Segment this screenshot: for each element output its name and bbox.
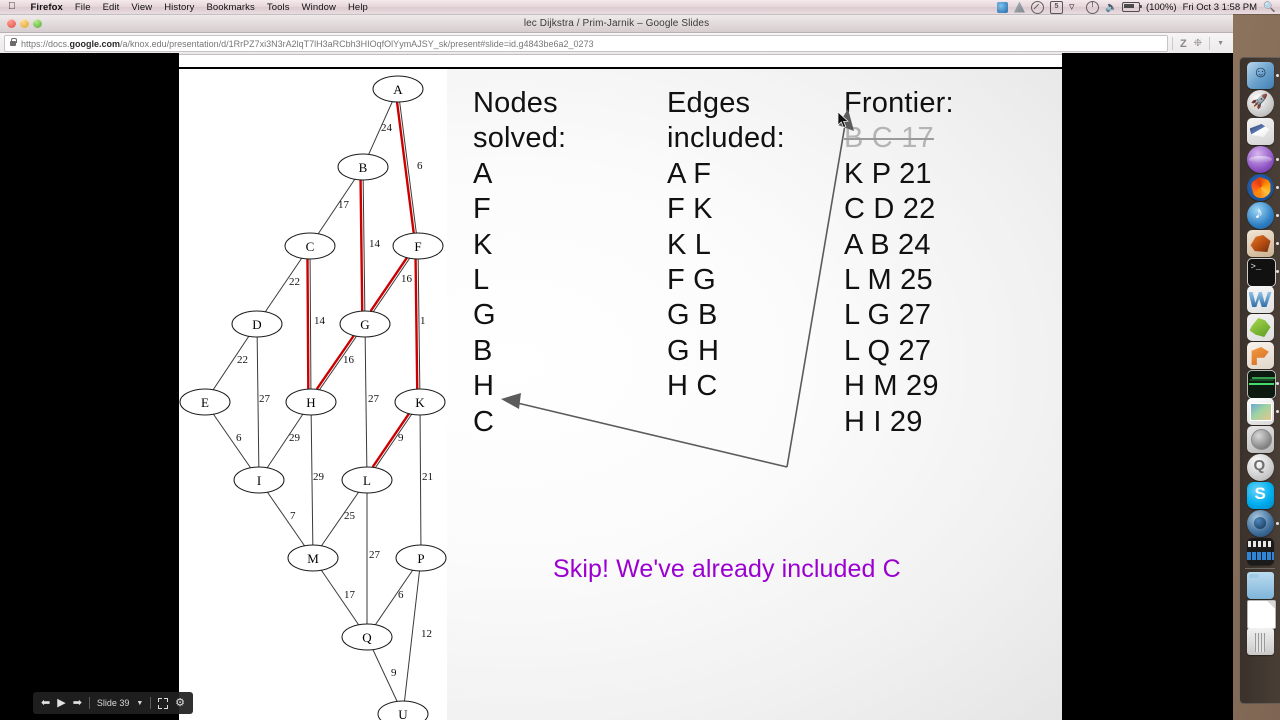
browser-toolbar: https://docs.google.com/a/knox.edu/prese… xyxy=(0,33,1233,55)
blue-w-app-icon[interactable] xyxy=(1247,286,1274,313)
extension-icon[interactable]: ❉ xyxy=(1194,38,1202,49)
app-running-indicator xyxy=(1276,186,1279,189)
dock-item-terminal[interactable] xyxy=(1247,258,1274,285)
mac-dock[interactable] xyxy=(1239,57,1280,704)
app-running-indicator xyxy=(1276,270,1279,273)
dock-item-imovie[interactable] xyxy=(1247,538,1274,565)
wifi-icon[interactable]: ▿ xyxy=(1069,2,1080,13)
app-running-indicator xyxy=(1276,410,1279,413)
url-host: google.com xyxy=(70,39,121,49)
node-label: F xyxy=(414,239,421,254)
frontier-item: H M 29 xyxy=(844,369,954,404)
dock-item-itunes[interactable] xyxy=(1247,202,1274,229)
graph-node-A: A xyxy=(373,76,423,102)
frontier-item: K P 21 xyxy=(844,157,954,192)
gear-icon[interactable]: ⚙ xyxy=(175,698,185,709)
finder-icon[interactable] xyxy=(1247,62,1274,89)
menu-item-edit[interactable]: Edit xyxy=(97,2,126,13)
nodes-solved-item: C xyxy=(473,405,566,440)
edge-weight-PQ: 6 xyxy=(398,589,404,601)
menu-item-window[interactable]: Window xyxy=(296,2,342,13)
graph-node-B: B xyxy=(338,154,388,180)
battery-icon[interactable] xyxy=(1122,2,1140,12)
edge-weight-BC: 17 xyxy=(338,199,350,211)
column-edges-included: Edges included: A F F K K L F G G B G H … xyxy=(667,86,785,405)
toolbar-right-icons: Z ❉ ▼ xyxy=(1172,37,1229,50)
dock-item-documents-folder[interactable] xyxy=(1247,572,1274,599)
app-running-indicator xyxy=(1276,74,1279,77)
graph-node-I: I xyxy=(234,467,284,493)
menu-item-view[interactable]: View xyxy=(125,2,158,13)
menu-bar-clock[interactable]: Fri Oct 3 1:58 PM xyxy=(1183,2,1257,13)
slide-menu-chevron-down-icon[interactable]: ▼ xyxy=(136,700,143,707)
edge-weight-MQ: 17 xyxy=(344,589,356,601)
edge-weight-FG: 16 xyxy=(401,273,413,285)
frontier-item-struck: B C 17 xyxy=(844,121,954,156)
horse-app-icon[interactable] xyxy=(1247,230,1274,257)
app-running-indicator xyxy=(1276,214,1279,217)
slide-controls-bar[interactable]: ⬅ ▶ ➡ Slide 39 ▼ ⚙ xyxy=(33,692,193,714)
graph-edge-FG xyxy=(373,258,409,311)
edge-weight-FK: 1 xyxy=(420,315,426,327)
green-app-icon[interactable] xyxy=(1247,314,1274,341)
dock-item-globe-app[interactable] xyxy=(1247,426,1274,453)
edge-weight-KP: 21 xyxy=(422,471,433,483)
mst-edge-KL xyxy=(373,413,409,466)
node-label: I xyxy=(257,473,261,488)
frontier-item: A B 24 xyxy=(844,228,954,263)
do-not-disturb-icon[interactable] xyxy=(1031,1,1044,14)
edge-weight-CD: 22 xyxy=(289,276,300,288)
graph-node-M: M xyxy=(288,545,338,571)
graph-node-E: E xyxy=(180,389,230,415)
frontier-item: L Q 27 xyxy=(844,334,954,369)
nodes-solved-item: H xyxy=(473,369,566,404)
edge-weight-GH: 16 xyxy=(343,354,355,366)
node-label: H xyxy=(306,395,315,410)
edges-included-item: G B xyxy=(667,298,785,333)
graph-node-U: U xyxy=(378,701,428,720)
window-title-bar[interactable]: lec Dijkstra / Prim-Jarnik – Google Slid… xyxy=(0,14,1233,33)
lock-icon xyxy=(10,41,16,46)
graph-edge-GL xyxy=(365,337,367,467)
dock-item-photos[interactable] xyxy=(1247,398,1274,425)
node-label: U xyxy=(398,707,408,720)
frontier-item: C D 22 xyxy=(844,192,954,227)
graph-edge-AF xyxy=(400,102,417,233)
slide-canvas[interactable]: ABCFDGEHKILMPQU 246171422141612227162762… xyxy=(179,69,1062,720)
itunes-icon[interactable] xyxy=(1247,202,1274,229)
edge-weight-DI: 27 xyxy=(259,393,271,405)
graph-edge-PU xyxy=(404,571,419,701)
dock-item-blue-w-app[interactable] xyxy=(1247,286,1274,313)
letterbox-left xyxy=(0,53,179,720)
graph-edge-EI xyxy=(213,414,250,468)
next-slide-icon[interactable]: ➡ xyxy=(73,698,82,709)
trash-icon[interactable] xyxy=(1247,628,1274,655)
previous-slide-icon[interactable]: ⬅ xyxy=(41,698,50,709)
controls-divider-2 xyxy=(150,697,151,709)
fullscreen-icon[interactable] xyxy=(158,698,168,709)
menu-item-tools[interactable]: Tools xyxy=(261,2,296,13)
edge-weight-PU: 12 xyxy=(421,628,432,640)
edges-included-item: F G xyxy=(667,263,785,298)
nodes-solved-item: L xyxy=(473,263,566,298)
dock-item-quicksilver[interactable] xyxy=(1247,454,1274,481)
dock-item-skype[interactable] xyxy=(1247,482,1274,509)
edges-included-item: G H xyxy=(667,334,785,369)
dock-item-firefox[interactable] xyxy=(1247,174,1274,201)
mst-edge-FK xyxy=(416,259,418,389)
alert-icon[interactable]: ! xyxy=(1086,1,1099,14)
edge-weight-LQ: 27 xyxy=(369,549,381,561)
window-title: lec Dijkstra / Prim-Jarnik – Google Slid… xyxy=(0,18,1233,29)
node-label: M xyxy=(307,551,319,566)
graph-edge-BG xyxy=(363,180,365,311)
edge-weight-LM: 25 xyxy=(344,510,356,522)
chevron-down-icon[interactable]: ▼ xyxy=(1217,40,1224,47)
photos-icon[interactable] xyxy=(1247,398,1274,425)
globe-app-icon[interactable] xyxy=(1247,426,1274,453)
screen:  Firefox File Edit View History Bookmar… xyxy=(0,0,1280,720)
controls-divider xyxy=(89,697,90,709)
screen-sharing-icon[interactable]: 5 xyxy=(1050,1,1063,14)
dock-separator xyxy=(1245,568,1275,569)
menu-item-help[interactable]: Help xyxy=(342,2,374,13)
graph-node-C: C xyxy=(285,233,335,259)
nodes-solved-item: A xyxy=(473,157,566,192)
slide-number-label[interactable]: Slide 39 xyxy=(97,698,130,708)
app-running-indicator xyxy=(1276,158,1279,161)
graph-edge-KL xyxy=(375,414,411,467)
frontier-item: L M 25 xyxy=(844,263,954,298)
frontier-item: H I 29 xyxy=(844,405,954,440)
purple-orb-app-icon[interactable] xyxy=(1247,146,1274,173)
graph-node-L: L xyxy=(342,467,392,493)
edge-weight-AF: 6 xyxy=(417,160,423,172)
app-running-indicator xyxy=(1276,242,1279,245)
node-label: E xyxy=(201,395,209,410)
dock-item-orange-p-app[interactable] xyxy=(1247,342,1274,369)
app-running-indicator xyxy=(1276,522,1279,525)
nodes-solved-item: F xyxy=(473,192,566,227)
zotero-icon[interactable]: Z xyxy=(1180,38,1187,50)
node-label: P xyxy=(417,551,424,566)
graph-image: ABCFDGEHKILMPQU 246171422141612227162762… xyxy=(179,69,447,720)
dock-item-activity-monitor[interactable] xyxy=(1247,370,1274,397)
menu-item-bookmarks[interactable]: Bookmarks xyxy=(200,2,260,13)
edge-weight-HI: 29 xyxy=(289,432,301,444)
battery-percent: (100%) xyxy=(1146,2,1177,13)
node-label: K xyxy=(415,395,425,410)
edge-weight-EI: 6 xyxy=(236,432,242,444)
volume-icon[interactable]: 🔈 xyxy=(1105,2,1116,13)
quicktime-icon[interactable] xyxy=(1247,510,1274,537)
graph-node-D: D xyxy=(232,311,282,337)
spotlight-search-icon[interactable]: 🔍 xyxy=(1263,2,1274,13)
node-label: A xyxy=(393,82,403,97)
graph-node-K: K xyxy=(395,389,445,415)
edge-weight-KL: 9 xyxy=(398,432,404,444)
dock-item-trash[interactable] xyxy=(1247,628,1274,655)
menu-item-file[interactable]: File xyxy=(69,2,97,13)
edge-weight-HM: 29 xyxy=(313,471,325,483)
url-path: /a/knox.edu/presentation/d/1RrPZ7xi3N3rA… xyxy=(120,39,594,49)
graph-edge-KP xyxy=(420,415,421,545)
firefox-icon[interactable] xyxy=(1247,174,1274,201)
dock-item-quicktime[interactable] xyxy=(1247,510,1274,537)
mst-edge-BG xyxy=(361,180,363,311)
edge-weight-BG: 14 xyxy=(369,238,381,250)
graph-edge-BC xyxy=(318,179,355,233)
node-label: L xyxy=(363,473,371,488)
bluejay-app-icon[interactable] xyxy=(1247,118,1274,145)
graph-edge-CH xyxy=(310,259,311,389)
graph-edge-IM xyxy=(267,492,304,546)
node-label: D xyxy=(252,317,261,332)
edge-weight-GL: 27 xyxy=(368,393,380,405)
edges-included-item: F K xyxy=(667,192,785,227)
edge-weight-AB: 24 xyxy=(381,122,393,134)
edges-included-item: K L xyxy=(667,228,785,263)
frontier-item: L G 27 xyxy=(844,298,954,333)
menu-item-firefox[interactable]: Firefox xyxy=(25,2,69,13)
node-label: C xyxy=(306,239,315,254)
mouse-cursor xyxy=(838,112,850,130)
activity-monitor-icon[interactable] xyxy=(1247,370,1276,399)
graph-node-H: H xyxy=(286,389,336,415)
play-icon[interactable]: ▶ xyxy=(57,698,65,709)
edge-weight-QU: 9 xyxy=(391,667,397,679)
column-nodes-solved: Nodes solved: A F K L G B H C xyxy=(473,86,566,440)
dock-item-green-app[interactable] xyxy=(1247,314,1274,341)
address-bar[interactable]: https://docs.google.com/a/knox.edu/prese… xyxy=(4,35,1168,52)
orange-p-app-icon[interactable] xyxy=(1247,342,1274,369)
presentation-viewport: ABCFDGEHKILMPQU 246171422141612227162762… xyxy=(0,67,1233,720)
mst-edge-AF xyxy=(397,102,414,233)
downloads-file-icon[interactable] xyxy=(1247,600,1276,629)
dock-item-bluejay-app[interactable] xyxy=(1247,118,1274,145)
nodes-solved-heading: Nodes solved: xyxy=(473,86,566,157)
graph-node-F: F xyxy=(393,233,443,259)
node-label: Q xyxy=(362,630,372,645)
dock-item-downloads-file[interactable] xyxy=(1247,600,1274,627)
skype-icon[interactable] xyxy=(1247,482,1274,509)
mst-edge-CH xyxy=(307,259,308,389)
frontier-heading: Frontier: xyxy=(844,86,954,121)
dock-item-horse-app[interactable] xyxy=(1247,230,1274,257)
edge-weight-CH: 14 xyxy=(314,315,326,327)
letterbox-right xyxy=(1062,53,1233,720)
app-running-indicator xyxy=(1276,382,1279,385)
graph-edge-PQ xyxy=(375,570,412,625)
graph-svg: ABCFDGEHKILMPQU 246171422141612227162762… xyxy=(179,69,447,720)
terminal-icon[interactable] xyxy=(1247,258,1276,287)
firefox-window: lec Dijkstra / Prim-Jarnik – Google Slid… xyxy=(0,14,1233,720)
dock-item-finder[interactable] xyxy=(1247,62,1274,89)
menu-item-history[interactable]: History xyxy=(158,2,200,13)
edge-weight-DE: 22 xyxy=(237,354,248,366)
graph-node-Q: Q xyxy=(342,624,392,650)
nodes-solved-item: G xyxy=(473,298,566,333)
edges-included-heading: Edges included: xyxy=(667,86,785,157)
edges-included-item: A F xyxy=(667,157,785,192)
nodes-solved-item: K xyxy=(473,228,566,263)
apple-menu-icon[interactable]:  xyxy=(8,2,16,12)
skip-note: Skip! We've already included C xyxy=(553,555,901,584)
node-label: G xyxy=(360,317,369,332)
arrow-to-frontier-bc xyxy=(787,119,846,467)
node-label: B xyxy=(359,160,368,175)
quicksilver-icon[interactable] xyxy=(1247,454,1274,481)
dock-item-purple-orb-app[interactable] xyxy=(1247,146,1274,173)
toolbar-divider xyxy=(1172,37,1173,50)
imovie-icon[interactable] xyxy=(1247,538,1274,565)
toolbar-divider-2 xyxy=(1209,37,1210,50)
launchpad-icon[interactable] xyxy=(1247,90,1274,117)
mac-menu-bar:  Firefox File Edit View History Bookmar… xyxy=(0,0,1280,14)
column-frontier: Frontier: B C 17 K P 21 C D 22 A B 24 L … xyxy=(844,86,954,440)
graph-node-G: G xyxy=(340,311,390,337)
google-drive-icon[interactable] xyxy=(1014,2,1025,13)
edge-weight-IM: 7 xyxy=(290,510,296,522)
dropbox-icon[interactable] xyxy=(997,2,1008,13)
dock-item-launchpad[interactable] xyxy=(1247,90,1274,117)
graph-node-P: P xyxy=(396,545,446,571)
nodes-solved-item: B xyxy=(473,334,566,369)
documents-folder-icon[interactable] xyxy=(1247,572,1274,599)
url-scheme: https://docs. xyxy=(21,39,70,49)
edges-included-item: H C xyxy=(667,369,785,404)
